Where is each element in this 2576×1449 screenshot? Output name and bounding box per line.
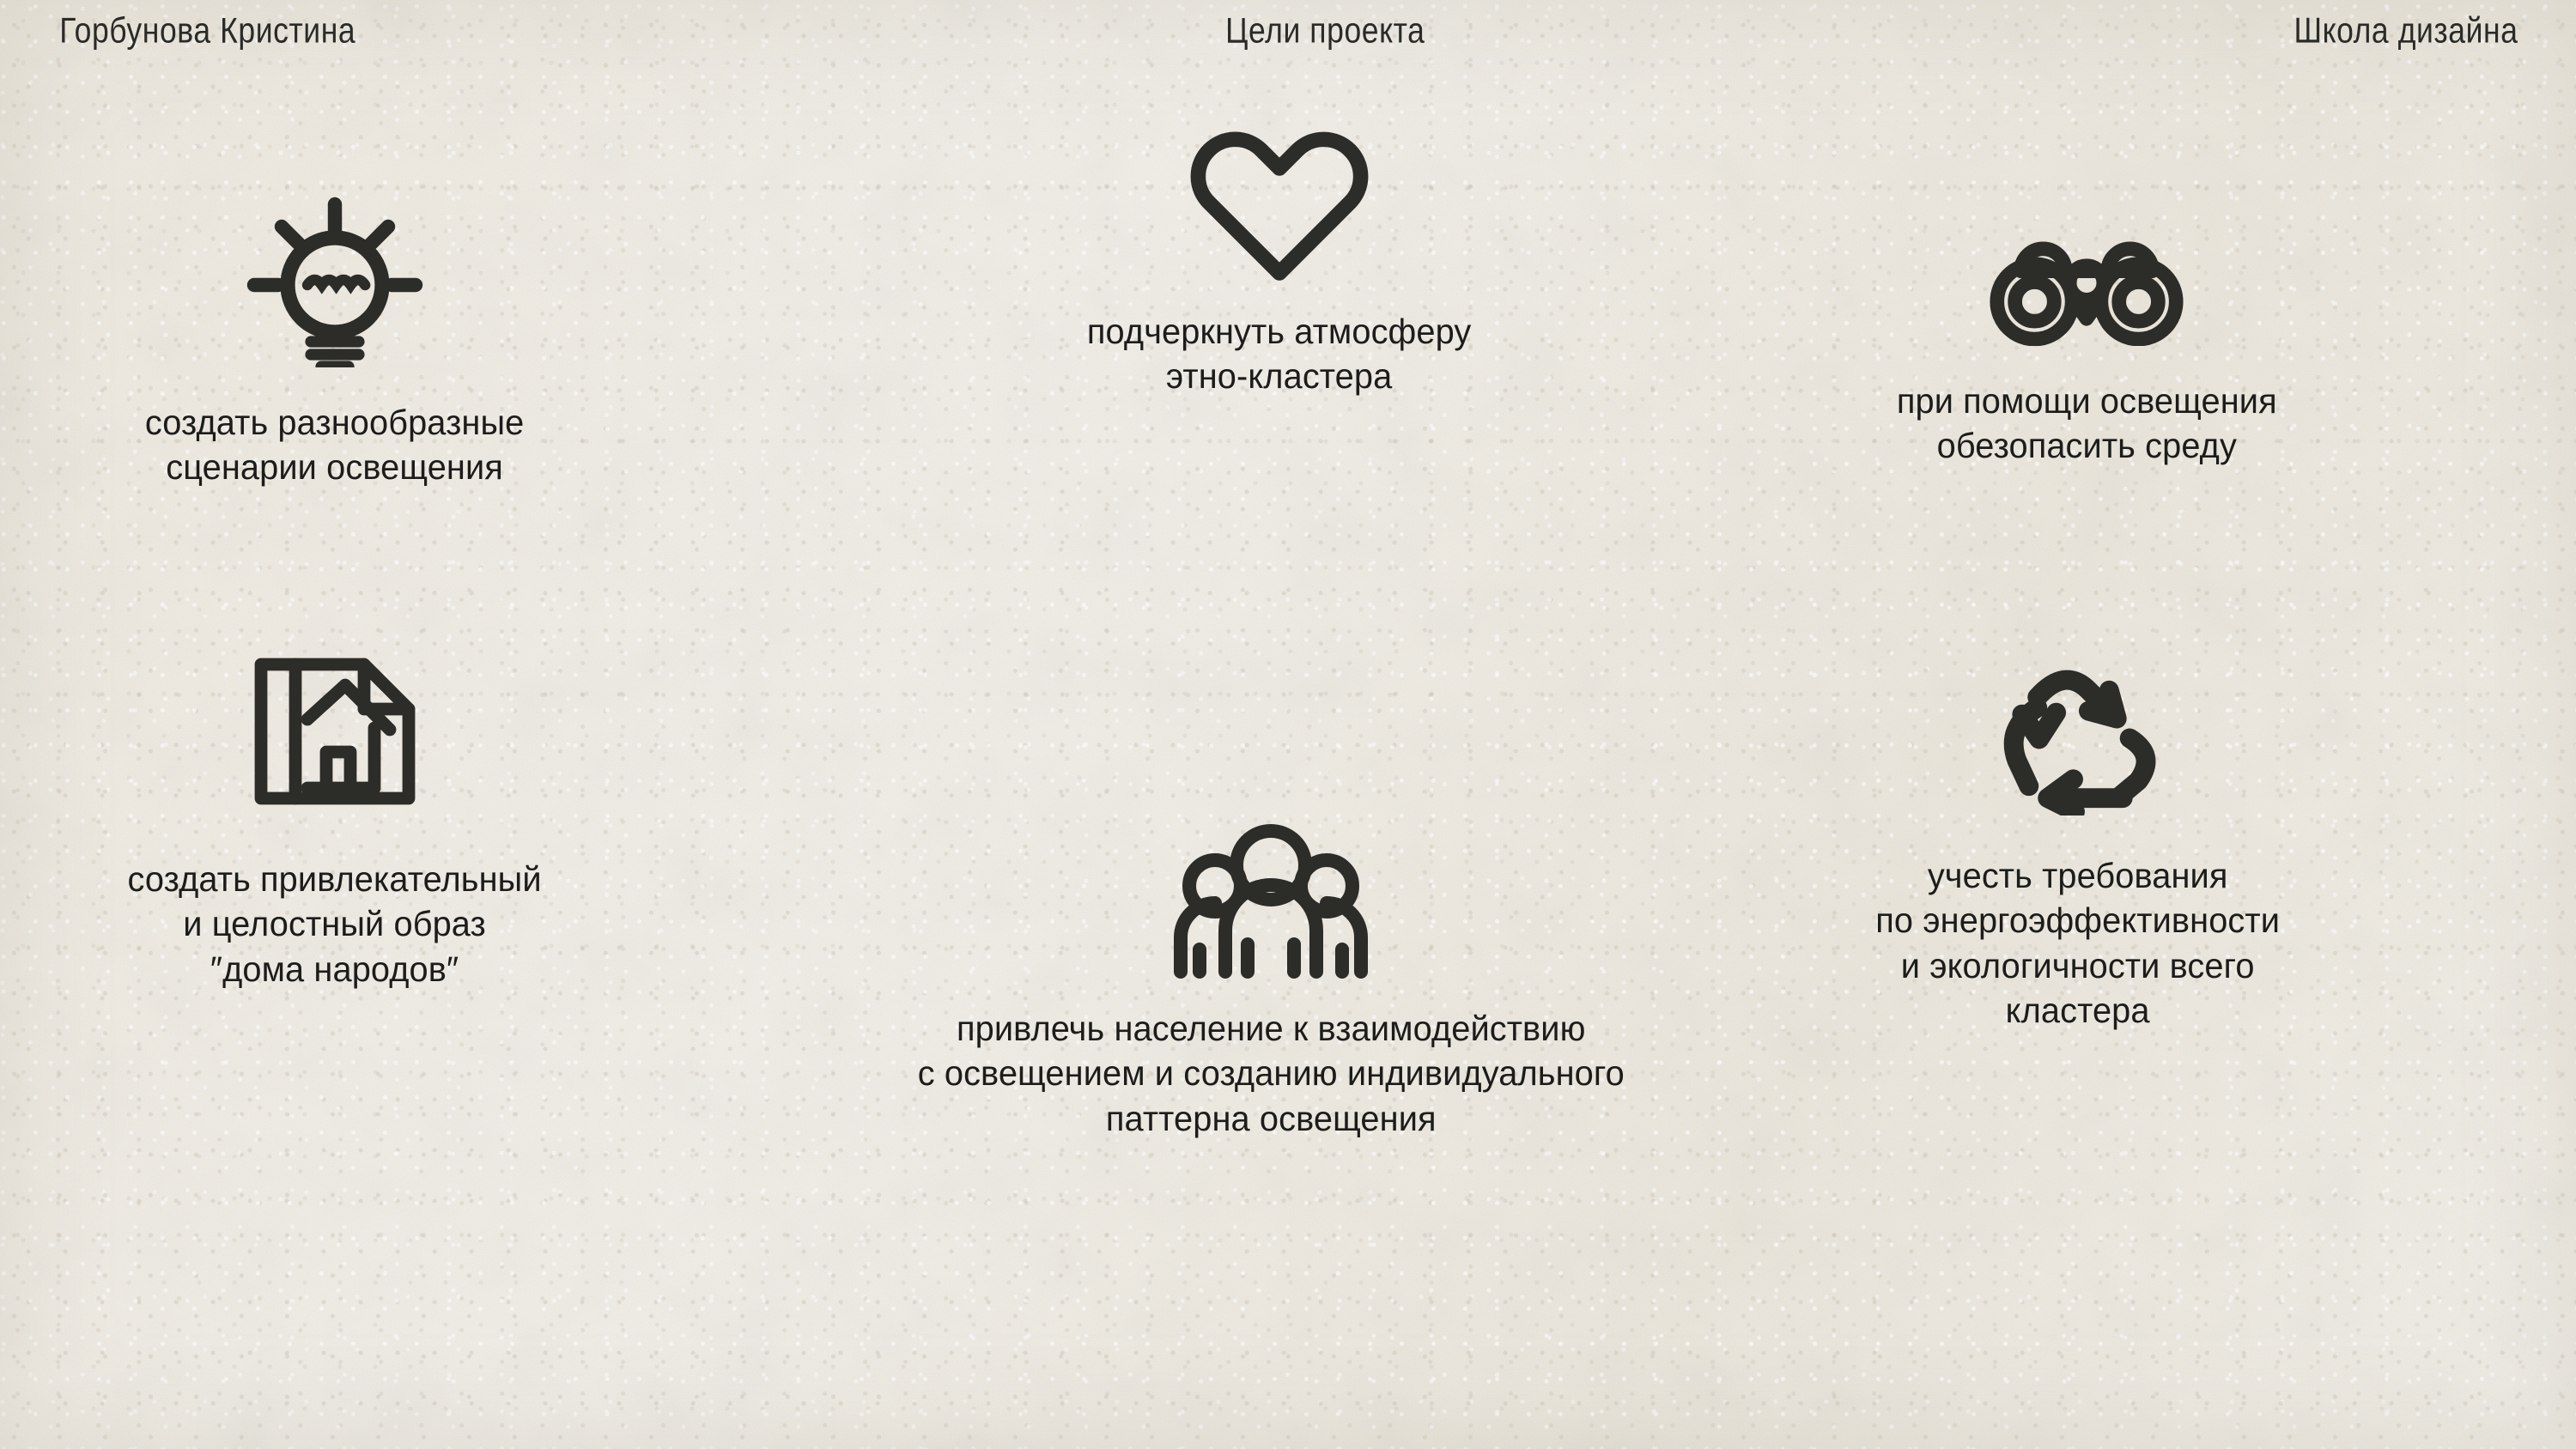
blueprint-house-icon — [249, 646, 421, 817]
people-group-icon — [1172, 824, 1370, 979]
slide-title: Цели проекта — [400, 10, 2251, 51]
goal-item-house-of-nations-image: создать привлекательный и целостный обра… — [94, 646, 575, 991]
lightbulb-icon — [240, 196, 429, 367]
goal-label: создать разнообразные сценарии освещения — [145, 400, 525, 490]
goal-item-lighting-scenarios: создать разнообразные сценарии освещения — [112, 196, 558, 490]
goal-label: при помощи освещения обезопасить среду — [1897, 379, 2277, 469]
goal-label: привлечь население к взаимодействию с ос… — [917, 1006, 1624, 1141]
goal-label: подчеркнуть атмосферу этно-кластера — [1087, 309, 1471, 399]
goal-label: создать привлекательный и целостный обра… — [128, 857, 542, 991]
heart-icon — [1176, 120, 1382, 283]
goal-item-safe-environment: при помощи освещения обезопасить среду — [1786, 230, 2387, 469]
binoculars-icon — [1979, 230, 2194, 346]
slide-header: Горбунова Кристина Цели проекта Школа ди… — [0, 0, 2576, 62]
header-author: Горбунова Кристина — [59, 10, 355, 51]
goal-item-ethno-cluster-atmosphere: подчеркнуть атмосферу этно-кластера — [1013, 120, 1546, 399]
goal-label: учесть требования по энергоэффективности… — [1876, 853, 2281, 1034]
goal-item-energy-efficiency: учесть требования по энергоэффективности… — [1777, 661, 2379, 1034]
recycle-icon — [1995, 661, 2162, 815]
goal-item-public-interaction: привлечь население к взаимодействию с ос… — [756, 824, 1786, 1141]
header-institution: Школа дизайна — [2293, 10, 2518, 51]
